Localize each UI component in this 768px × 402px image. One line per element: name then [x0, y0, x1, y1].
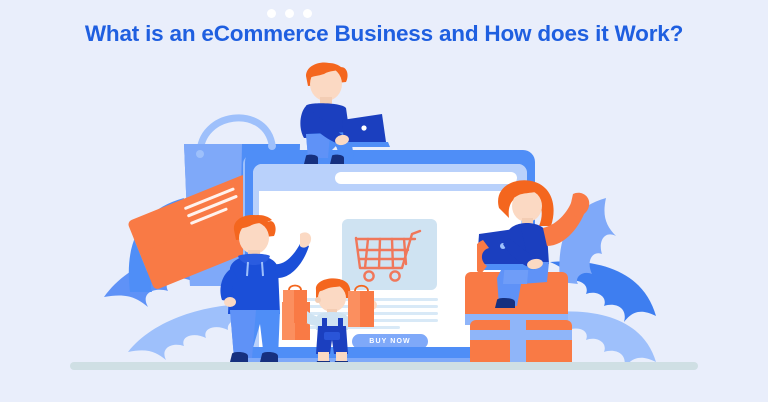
character-man-on-browser-with-laptop [286, 58, 396, 173]
shopping-bag-child-right [346, 282, 376, 335]
illustration-banner: What is an eCommerce Business and How do… [0, 0, 768, 402]
character-woman-on-gift-boxes-with-laptop [477, 178, 597, 308]
gift-ribbon-horizontal-bottom [470, 330, 572, 340]
browser-dot-minimize-icon[interactable] [285, 9, 294, 18]
shopping-bag-child-left [281, 282, 309, 331]
page-title: What is an eCommerce Business and How do… [0, 20, 768, 47]
browser-dot-maximize-icon[interactable] [303, 9, 312, 18]
browser-dot-close-icon[interactable] [267, 9, 276, 18]
ground-line [70, 362, 698, 370]
